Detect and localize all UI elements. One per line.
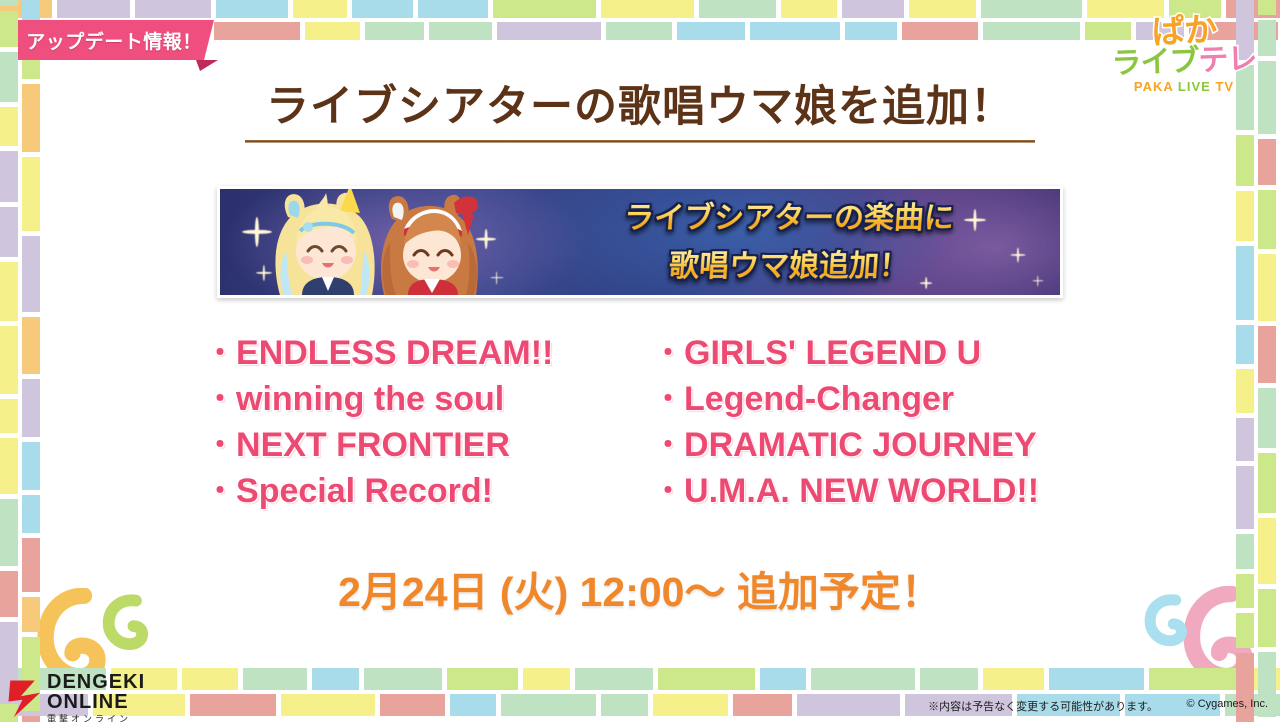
watermark-line-2: ONLINE <box>47 692 145 712</box>
mosaic-tile <box>902 22 978 40</box>
mosaic-tile <box>22 157 40 231</box>
announcement-banner: ライブシアターの楽曲に 歌唱ウマ娘追加！ <box>217 186 1063 298</box>
song-title: NEXT FRONTIER <box>236 426 510 464</box>
mosaic-tile <box>981 0 1082 18</box>
mosaic-tile <box>365 22 424 40</box>
mosaic-tile <box>352 0 413 18</box>
mosaic-tile <box>575 668 653 690</box>
logo-romaji-tv: TV <box>1215 79 1234 94</box>
mosaic-tile <box>1258 0 1276 15</box>
mosaic-tile <box>601 694 648 716</box>
banner-line-2: 歌唱ウマ娘追加！ <box>518 243 1059 291</box>
banner-text: ライブシアターの楽曲に 歌唱ウマ娘追加！ <box>520 195 1058 291</box>
mosaic-tile <box>733 694 792 716</box>
paka-live-tv-logo: ぱか ライブテレ PAKA LIVE TV <box>1110 14 1258 126</box>
mosaic-tile <box>0 262 18 321</box>
song-list: ・ENDLESS DREAM!! ・winning the soul ・NEXT… <box>0 330 1280 514</box>
song-title: ENDLESS DREAM!! <box>236 334 553 372</box>
update-info-label: アップデート情報！ <box>18 20 210 60</box>
mosaic-tile <box>653 694 728 716</box>
mosaic-tile <box>797 694 900 716</box>
list-item: ・Special Record! <box>206 468 626 514</box>
song-title: DRAMATIC JOURNEY <box>684 426 1037 464</box>
character-auburn <box>368 191 496 295</box>
song-title: GIRLS' LEGEND U <box>684 334 981 372</box>
release-schedule: 2月24日 (火) 12:00〜 追加予定！ <box>0 558 1280 618</box>
mosaic-tile <box>493 0 596 18</box>
mosaic-tile <box>305 22 360 40</box>
mosaic-tile <box>0 207 18 257</box>
bullet-icon: ・ <box>654 383 682 414</box>
list-item: ・DRAMATIC JOURNEY <box>654 422 1074 468</box>
bullet-icon: ・ <box>654 337 682 368</box>
mosaic-tile <box>811 668 915 690</box>
mosaic-tile <box>699 0 776 18</box>
copyright-notice: © Cygames, Inc. <box>1187 698 1268 710</box>
mosaic-tile <box>781 0 837 18</box>
mosaic-tile <box>1258 254 1276 321</box>
song-title: U.M.A. NEW WORLD!! <box>684 472 1039 510</box>
mosaic-tile <box>1236 191 1254 241</box>
mosaic-tile <box>750 22 840 40</box>
mosaic-tile <box>190 694 276 716</box>
bullet-icon: ・ <box>654 429 682 460</box>
list-item: ・ENDLESS DREAM!! <box>206 330 626 376</box>
mosaic-tile <box>501 694 596 716</box>
mosaic-tile <box>364 668 442 690</box>
mosaic-tile <box>601 0 694 18</box>
bullet-icon: ・ <box>206 383 234 414</box>
mosaic-tile <box>182 668 238 690</box>
bullet-icon: ・ <box>206 475 234 506</box>
song-title: winning the soul <box>236 380 504 418</box>
mosaic-tile <box>418 0 488 18</box>
bullet-icon: ・ <box>654 475 682 506</box>
logo-romaji: PAKA LIVE TV <box>1110 79 1258 94</box>
lightning-bolt-icon <box>8 677 44 719</box>
mosaic-tile <box>429 22 492 40</box>
mosaic-tile <box>216 0 288 18</box>
list-item: ・Legend-Changer <box>654 376 1074 422</box>
mosaic-tile <box>22 236 40 312</box>
watermark-text: DENGEKI ONLINE 電撃オンライン <box>47 672 145 722</box>
mosaic-tile <box>447 668 518 690</box>
mosaic-tile <box>658 668 755 690</box>
song-title: Legend-Changer <box>684 380 954 418</box>
bullet-icon: ・ <box>206 429 234 460</box>
logo-romaji-live: LIVE <box>1178 79 1211 94</box>
mosaic-tile <box>1236 135 1254 186</box>
song-list-right-column: ・GIRLS' LEGEND U ・Legend-Changer ・DRAMAT… <box>654 330 1074 514</box>
ribbon-fold-shape <box>196 60 218 71</box>
mosaic-tile <box>760 668 806 690</box>
mosaic-tile <box>0 0 52 18</box>
page-title: ライブシアターの歌唱ウマ娘を追加！ <box>0 72 1280 134</box>
mosaic-tile <box>135 0 211 18</box>
mosaic-tile <box>523 668 570 690</box>
logo-line-live-tv: ライブテレ <box>1109 43 1258 80</box>
mosaic-tile <box>1258 190 1276 249</box>
song-title: Special Record! <box>236 472 493 510</box>
mosaic-tile <box>497 22 601 40</box>
mosaic-tile <box>57 0 130 18</box>
bullet-icon: ・ <box>206 337 234 368</box>
watermark-line-1: DENGEKI <box>47 672 145 692</box>
mosaic-tile <box>312 668 359 690</box>
mosaic-tile <box>1049 668 1144 690</box>
mosaic-tile <box>0 151 18 202</box>
presentation-slide: アップデート情報！ ぱか ライブテレ PAKA LIVE TV ライブシアターの… <box>0 0 1280 722</box>
song-list-left-column: ・ENDLESS DREAM!! ・winning the soul ・NEXT… <box>206 330 626 514</box>
mosaic-tile <box>677 22 745 40</box>
mosaic-tile <box>0 11 18 47</box>
logo-tv-text: テレ <box>1198 42 1257 77</box>
mosaic-tile <box>380 694 445 716</box>
watermark-line-3: 電撃オンライン <box>47 714 145 722</box>
mosaic-tile <box>0 0 18 6</box>
update-info-ribbon: アップデート情報！ <box>18 20 230 60</box>
logo-live-text: ライブ <box>1111 45 1199 81</box>
mosaic-tile <box>1236 246 1254 320</box>
mosaic-tile <box>0 668 8 690</box>
mosaic-tile <box>293 0 347 18</box>
page-title-text: ライブシアターの歌唱ウマ娘を追加！ <box>266 72 1014 134</box>
banner-line-1: ライブシアターの楽曲に <box>518 195 1059 243</box>
title-underline <box>245 140 1035 143</box>
logo-romaji-paka: PAKA <box>1134 79 1173 94</box>
list-item: ・GIRLS' LEGEND U <box>654 330 1074 376</box>
disclaimer-notice: ※内容は予告なく変更する可能性があります。 <box>928 698 1158 714</box>
list-item: ・NEXT FRONTIER <box>206 422 626 468</box>
mosaic-tile <box>845 22 897 40</box>
mosaic-tile <box>909 0 976 18</box>
mosaic-tile <box>281 694 375 716</box>
mosaic-tile <box>983 668 1044 690</box>
mosaic-tile <box>983 22 1080 40</box>
mosaic-tile <box>1258 20 1276 56</box>
dengeki-online-watermark: DENGEKI ONLINE 電撃オンライン <box>8 672 145 722</box>
mosaic-tile <box>606 22 672 40</box>
mosaic-tile <box>842 0 904 18</box>
mosaic-tile <box>450 694 496 716</box>
mosaic-tile <box>920 668 978 690</box>
mosaic-tile <box>1258 139 1276 185</box>
release-schedule-text: 2月24日 (火) 12:00〜 追加予定！ <box>338 558 942 618</box>
list-item: ・U.M.A. NEW WORLD!! <box>654 468 1074 514</box>
list-item: ・winning the soul <box>206 376 626 422</box>
mosaic-tile <box>243 668 307 690</box>
